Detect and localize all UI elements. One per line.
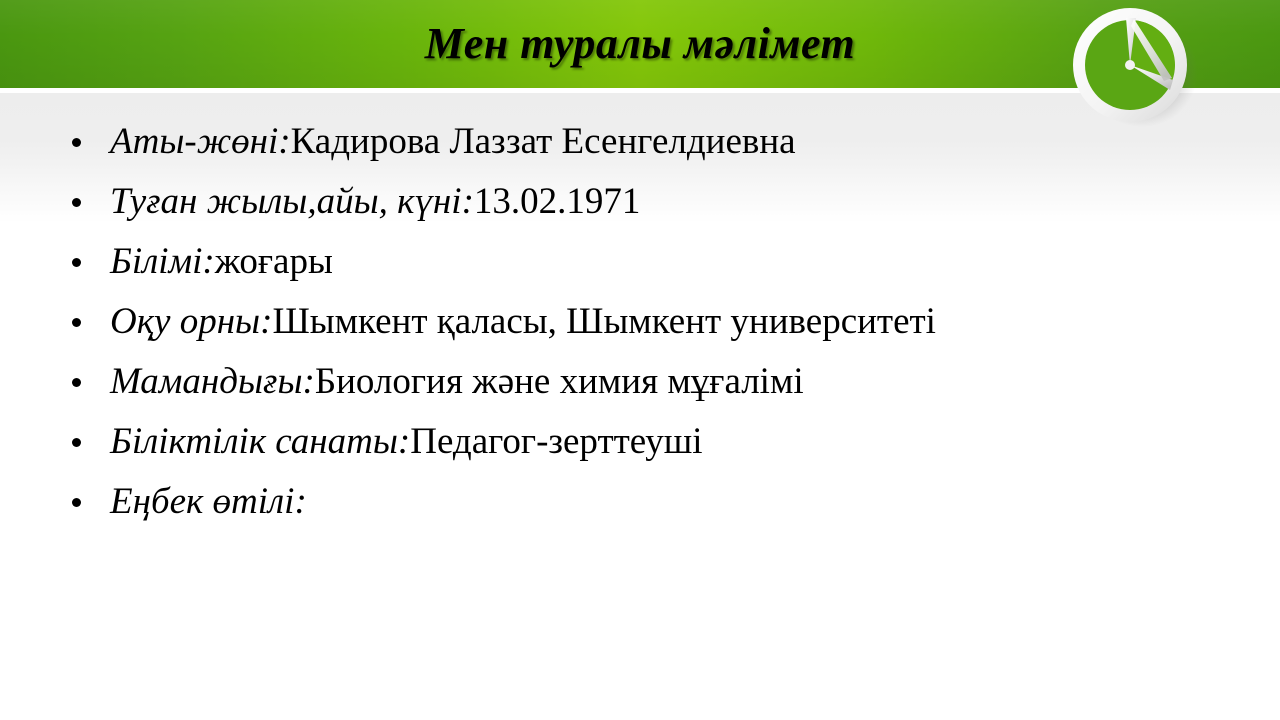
list-item: Мамандығы: Биология және химия мұғалімі <box>0 352 1280 412</box>
list-item-label: Білімі: <box>110 241 215 282</box>
list-item-label: Аты-жөні: <box>110 121 291 162</box>
info-bullet-list: Аты-жөні: Кадирова Лаззат Есенгелдиевна … <box>0 112 1280 532</box>
list-item: Оқу орны: Шымкент қаласы, Шымкент универ… <box>0 292 1280 352</box>
list-item-label: Туған жылы,айы, күні: <box>110 181 474 222</box>
list-item-value: 13.02.1971 <box>474 181 641 222</box>
list-item-value: Биология және химия мұғалімі <box>315 361 804 402</box>
list-item-label: Мамандығы: <box>110 361 315 402</box>
list-item-value: Педагог-зерттеуші <box>410 421 702 462</box>
pie-chart-logo-icon <box>1060 2 1210 132</box>
slide-body-content: Аты-жөні: Кадирова Лаззат Есенгелдиевна … <box>0 112 1280 532</box>
list-item-value: Шымкент қаласы, Шымкент университеті <box>272 301 936 342</box>
list-item-label: Еңбек өтілі: <box>110 481 307 522</box>
list-item: Біліктілік санаты: Педагог-зерттеуші <box>0 412 1280 472</box>
list-item: Еңбек өтілі: <box>0 472 1280 532</box>
list-item-value: Кадирова Лаззат Есенгелдиевна <box>291 121 796 162</box>
list-item: Білімі:жоғары <box>0 232 1280 292</box>
list-item: Туған жылы,айы, күні:13.02.1971 <box>0 172 1280 232</box>
list-item-label: Оқу орны: <box>110 301 272 342</box>
list-item-label: Біліктілік санаты: <box>110 421 410 462</box>
slide-canvas: Мен туралы мәлімет <box>0 0 1280 720</box>
list-item-value: жоғары <box>215 241 333 282</box>
